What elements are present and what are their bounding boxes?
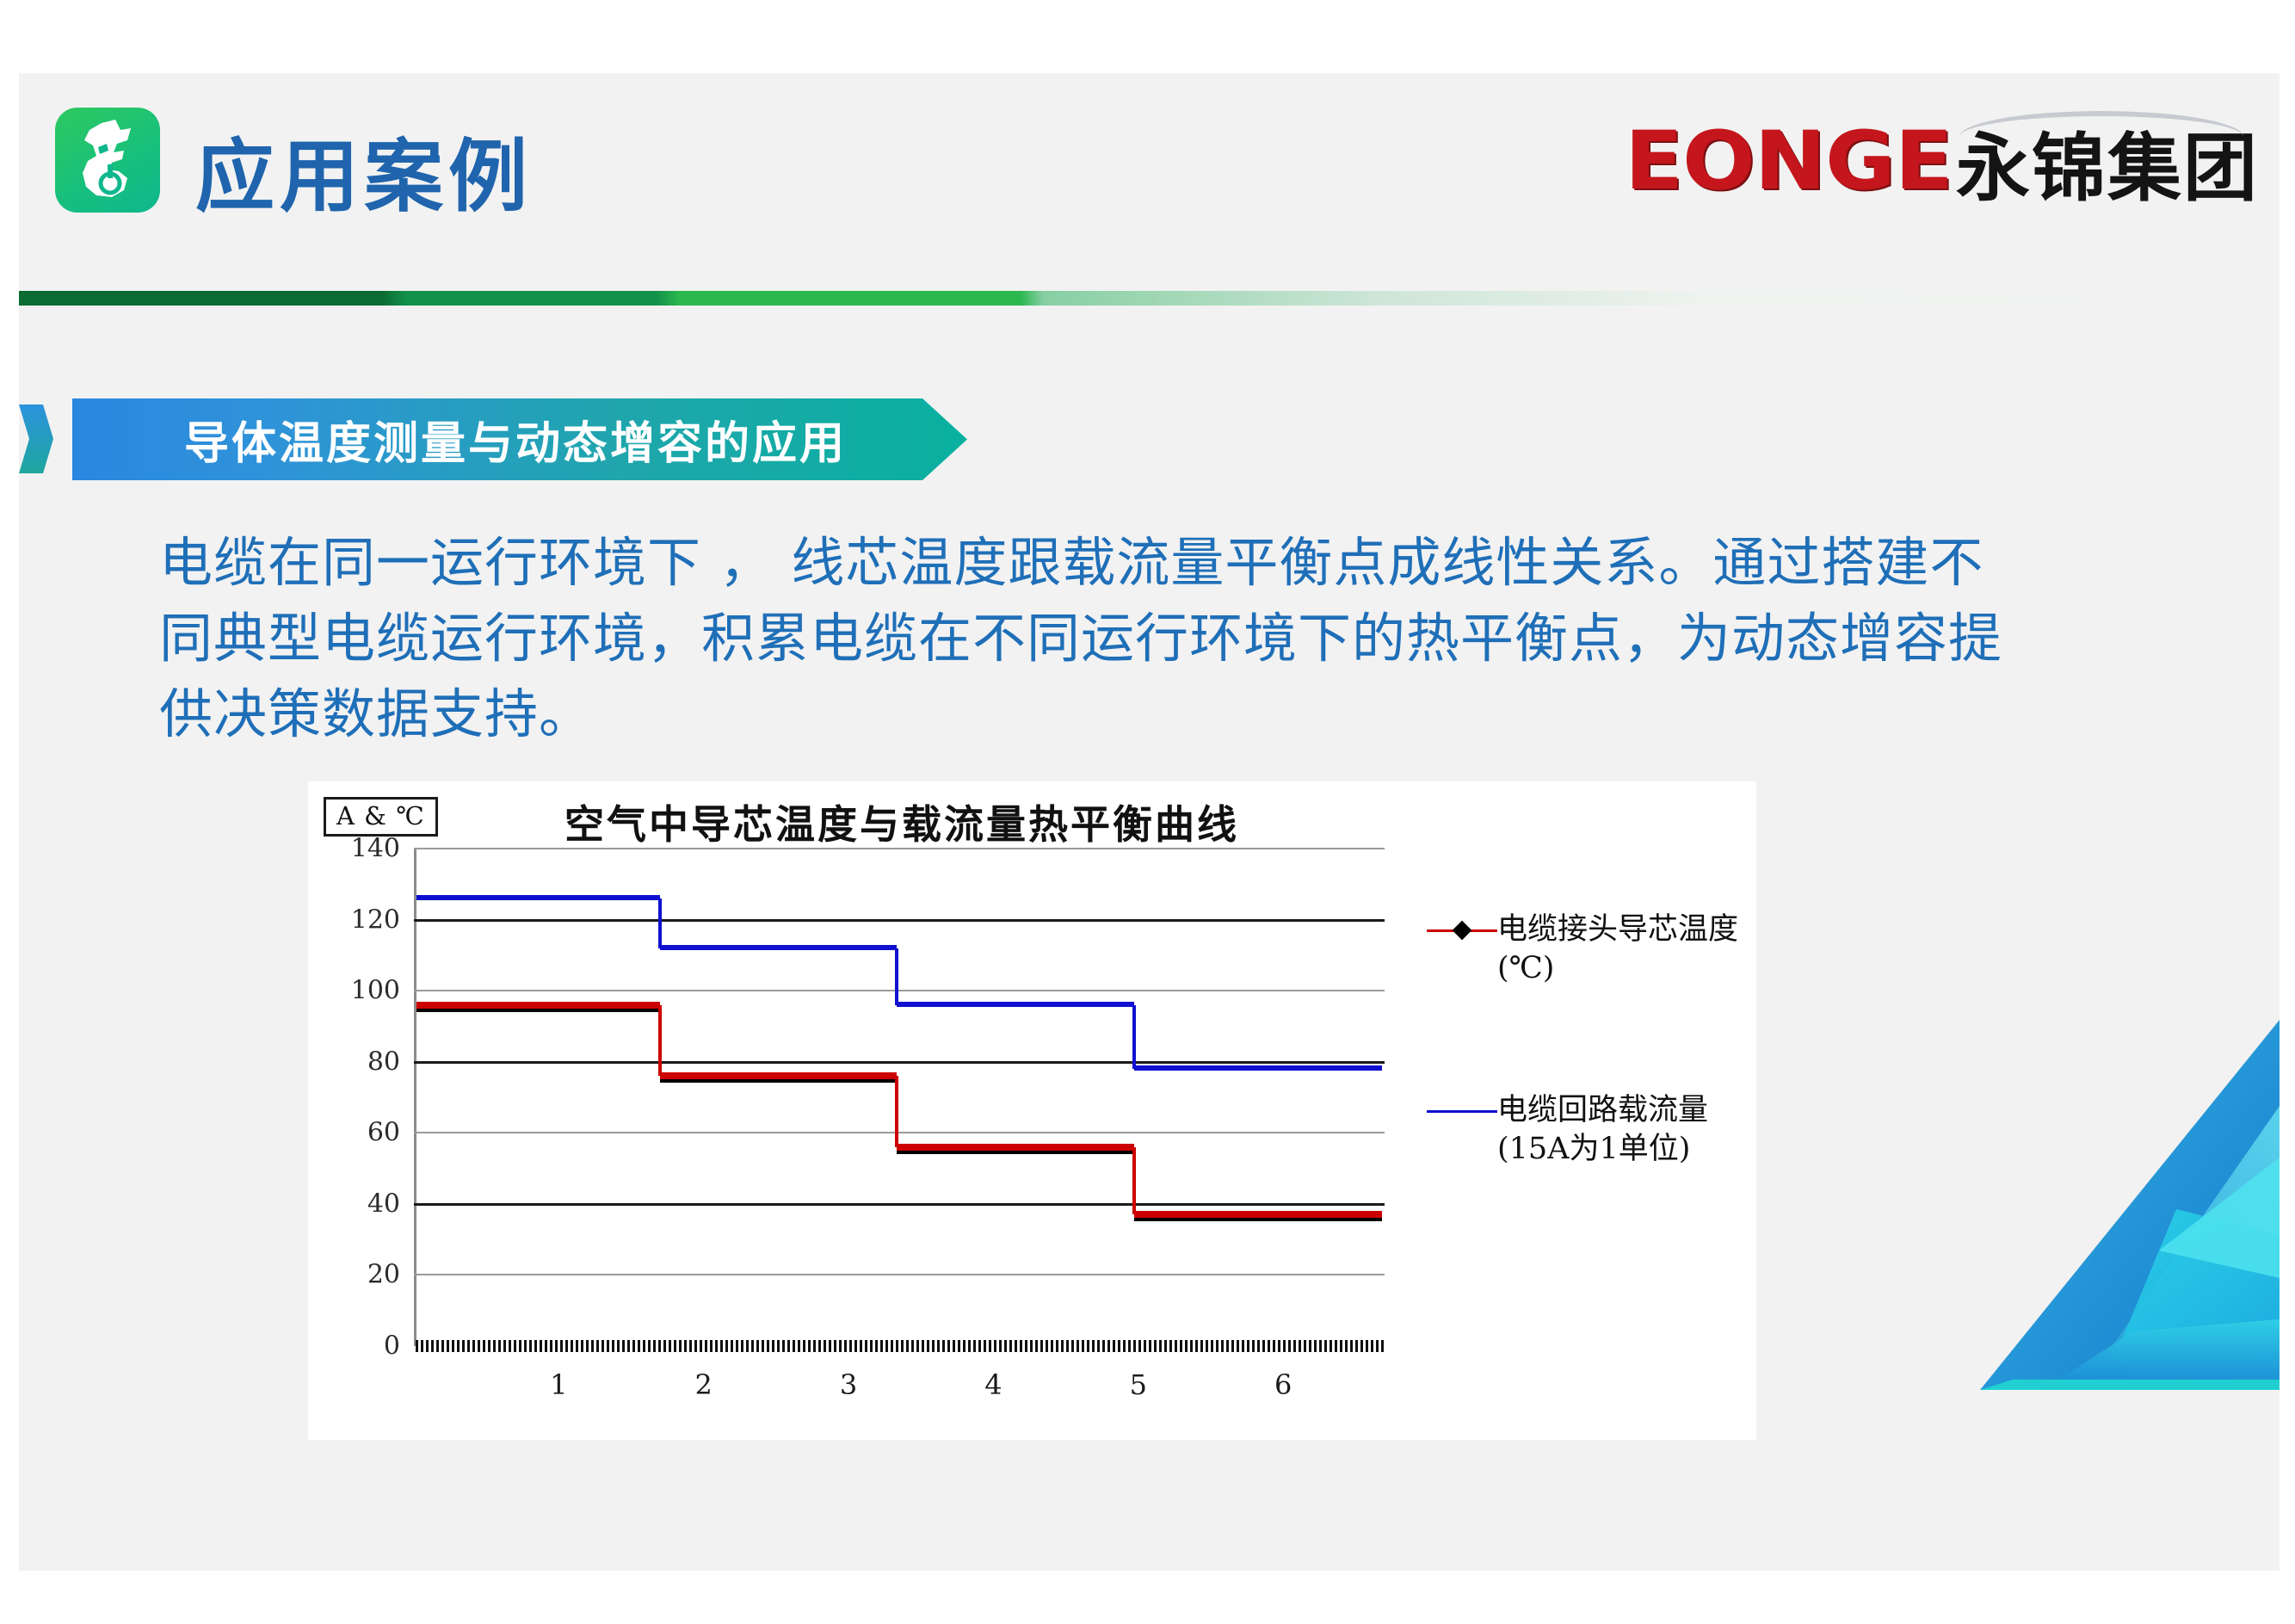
body-paragraph: 电缆在同一运行环境下 ， 线芯温度跟载流量平衡点成线性关系。通过搭建不同典型电缆… [159,525,2009,752]
y-axis-tick-label: 100 [351,976,400,1006]
series-step-drop [658,1005,662,1077]
x-axis-tick-label: 1 [550,1368,567,1401]
gridline [414,1203,1385,1206]
legend-item[interactable]: 电缆接头导芯温度(℃) [1427,911,1745,988]
plot-area: 020406080100120140123456 [414,849,1385,1346]
gridline [414,1274,1385,1275]
header-divider [19,291,2295,306]
series-step-drop [895,1076,898,1147]
banner-chevron-icon [19,404,53,473]
brand-lockup: EONGE 永锦集团 [1625,114,2259,207]
series-step-drop [1132,1147,1136,1214]
company-logo-mark [55,108,160,213]
series-segment [897,1144,1134,1154]
y-axis-tick-label: 60 [367,1118,400,1148]
slide: 应用案例 EONGE 永锦集团 导体温度测量与动态增容的应用 电缆在同一运行环境… [0,0,2295,1624]
legend-label: 电缆接头导芯温度(℃) [1497,911,1745,988]
legend-label: 电缆回路载流量(15A为1单位) [1497,1091,1745,1169]
x-axis-tick-label: 6 [1274,1368,1292,1401]
slide-header: 应用案例 EONGE 永锦集团 [19,73,2280,336]
baseline-marker-band [416,1340,1385,1352]
section-title: 导体温度测量与动态增容的应用 [184,407,847,472]
series-segment [1134,1211,1382,1221]
gridline [414,1061,1385,1064]
chart-panel: A & ℃ 空气中导芯温度与载流量热平衡曲线 02040608010012014… [308,781,1756,1440]
series-step-drop [895,948,898,1005]
x-axis-tick-label: 2 [695,1368,713,1401]
series-step-drop [1132,1005,1136,1069]
y-axis-tick-label: 0 [384,1331,400,1362]
series-segment [897,1002,1134,1007]
y-axis-tick-label: 140 [351,834,400,864]
y-axis-line [414,849,416,1346]
legend-item[interactable]: 电缆回路载流量(15A为1单位) [1427,1091,1745,1169]
series-segment [660,1072,896,1083]
series-segment [660,945,896,950]
slide-margin-left [0,0,19,1624]
y-axis-tick-label: 120 [351,905,400,935]
gridline [414,919,1385,922]
legend-swatch-icon [1427,916,1497,945]
gridline [414,1132,1385,1133]
x-axis-tick-label: 4 [984,1368,1002,1401]
series-segment [416,1002,660,1012]
y-axis-tick-label: 40 [367,1189,400,1219]
y-axis-tick-label: 80 [367,1047,400,1077]
gridline [414,848,1385,849]
page-title: 应用案例 [195,113,533,227]
corner-decoration [1961,1020,2280,1571]
x-axis-tick-label: 5 [1130,1368,1147,1401]
legend-swatch-icon [1427,1096,1497,1126]
brand-name-en: EONGE [1625,114,1953,208]
slide-margin-top [0,0,2295,73]
gridline [414,990,1385,991]
chart-title: 空气中导芯温度与载流量热平衡曲线 [308,793,1496,850]
x-axis-tick-label: 3 [840,1368,857,1401]
series-segment [1134,1065,1382,1071]
banner-body: 导体温度测量与动态增容的应用 [72,398,967,480]
series-segment [416,895,660,900]
slide-margin-bottom [0,1571,2295,1624]
y-axis-tick-label: 20 [367,1260,400,1290]
slide-margin-right [2280,0,2295,1624]
series-step-drop [658,898,662,948]
